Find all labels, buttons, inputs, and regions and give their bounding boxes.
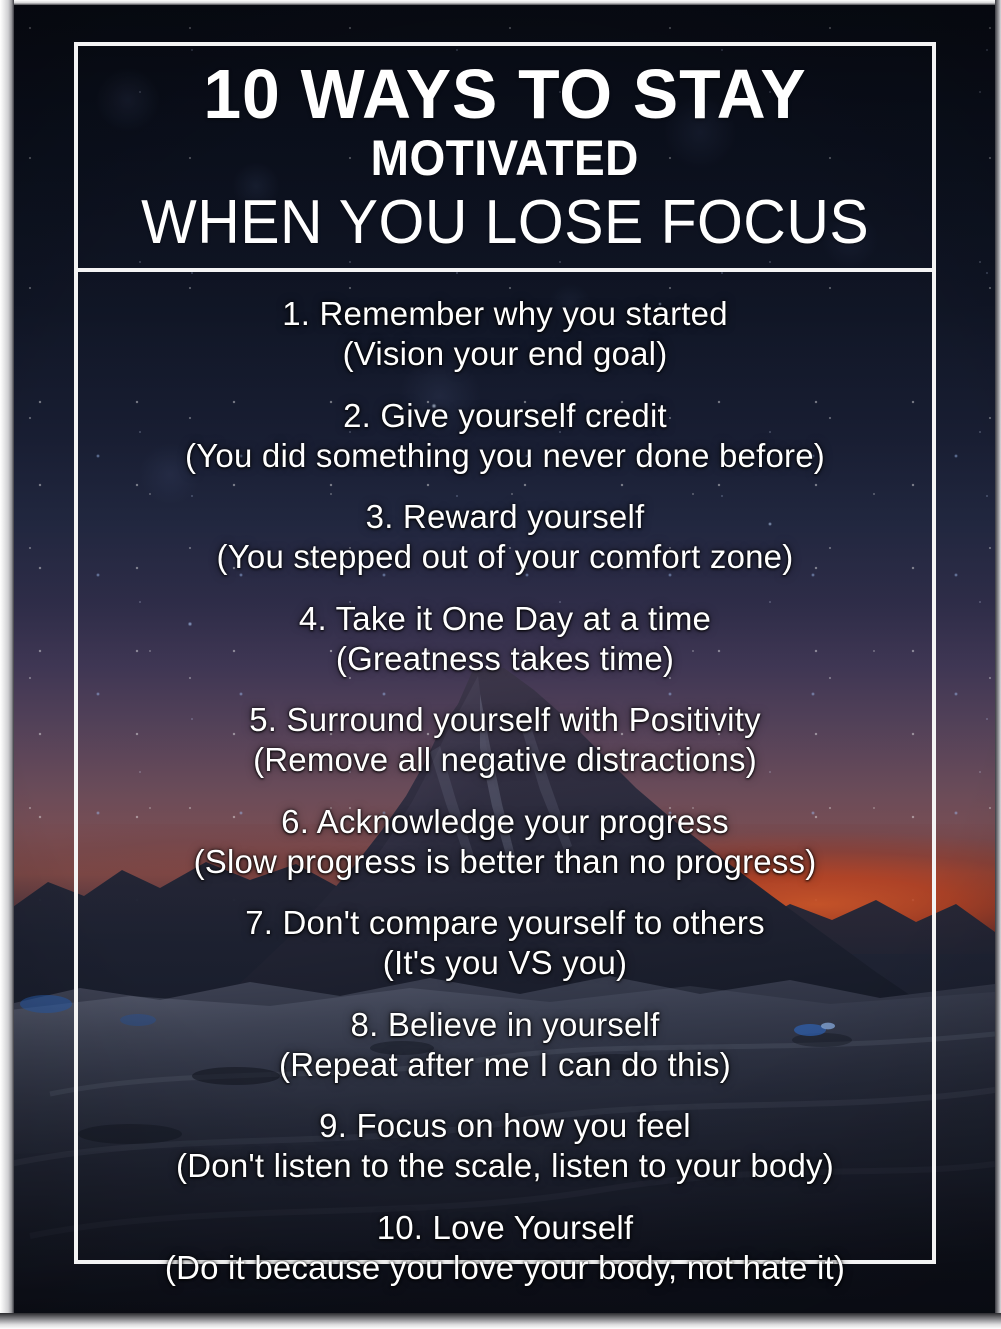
list-item: 3. Reward yourself (You stepped out of y… xyxy=(80,497,930,578)
tip-heading: 6. Acknowledge your progress xyxy=(80,802,930,842)
list-item: 2. Give yourself credit (You did somethi… xyxy=(80,396,930,477)
canvas-edge-top xyxy=(0,0,1001,5)
list-item: 10. Love Yourself (Do it because you lov… xyxy=(80,1208,930,1289)
tip-subtext: (Vision your end goal) xyxy=(80,334,930,374)
tip-heading: 5. Surround yourself with Positivity xyxy=(80,700,930,740)
list-item: 4. Take it One Day at a time (Greatness … xyxy=(80,599,930,680)
tip-subtext: (Do it because you love your body, not h… xyxy=(80,1248,930,1288)
tip-heading: 2. Give yourself credit xyxy=(80,396,930,436)
tip-subtext: (You stepped out of your comfort zone) xyxy=(80,537,930,577)
canvas-edge-left xyxy=(0,0,14,1329)
title-line-primary: 10 WAYS TO STAY xyxy=(203,60,806,129)
poster-title-block: 10 WAYS TO STAY MOTIVATED WHEN YOU LOSE … xyxy=(78,46,932,268)
tip-heading: 8. Believe in yourself xyxy=(80,1005,930,1045)
list-item: 1. Remember why you started (Vision your… xyxy=(80,294,930,375)
tip-heading: 7. Don't compare yourself to others xyxy=(80,903,930,943)
list-item: 9. Focus on how you feel (Don't listen t… xyxy=(80,1106,930,1187)
title-line-motivated: MOTIVATED xyxy=(371,131,639,185)
tips-list: 1. Remember why you started (Vision your… xyxy=(80,278,930,1260)
poster-canvas: 10 WAYS TO STAY MOTIVATED WHEN YOU LOSE … xyxy=(0,0,1001,1329)
tip-heading: 10. Love Yourself xyxy=(80,1208,930,1248)
title-line-subtitle: WHEN YOU LOSE FOCUS xyxy=(141,191,869,254)
title-divider-rule xyxy=(74,268,936,272)
list-item: 7. Don't compare yourself to others (It'… xyxy=(80,903,930,984)
tip-subtext: (It's you VS you) xyxy=(80,943,930,983)
canvas-edge-bottom xyxy=(0,1313,1001,1329)
list-item: 8. Believe in yourself (Repeat after me … xyxy=(80,1005,930,1086)
tip-heading: 4. Take it One Day at a time xyxy=(80,599,930,639)
list-item: 6. Acknowledge your progress (Slow progr… xyxy=(80,802,930,883)
tip-subtext: (You did something you never done before… xyxy=(80,436,930,476)
list-item: 5. Surround yourself with Positivity (Re… xyxy=(80,700,930,781)
tip-heading: 9. Focus on how you feel xyxy=(80,1106,930,1146)
canvas-edge-right xyxy=(995,0,1001,1329)
tip-heading: 3. Reward yourself xyxy=(80,497,930,537)
tip-heading: 1. Remember why you started xyxy=(80,294,930,334)
tip-subtext: (Greatness takes time) xyxy=(80,639,930,679)
tip-subtext: (Slow progress is better than no progres… xyxy=(80,842,930,882)
tip-subtext: (Don't listen to the scale, listen to yo… xyxy=(80,1146,930,1186)
tip-subtext: (Remove all negative distractions) xyxy=(80,740,930,780)
tip-subtext: (Repeat after me I can do this) xyxy=(80,1045,930,1085)
poster-artwork: 10 WAYS TO STAY MOTIVATED WHEN YOU LOSE … xyxy=(10,4,995,1316)
